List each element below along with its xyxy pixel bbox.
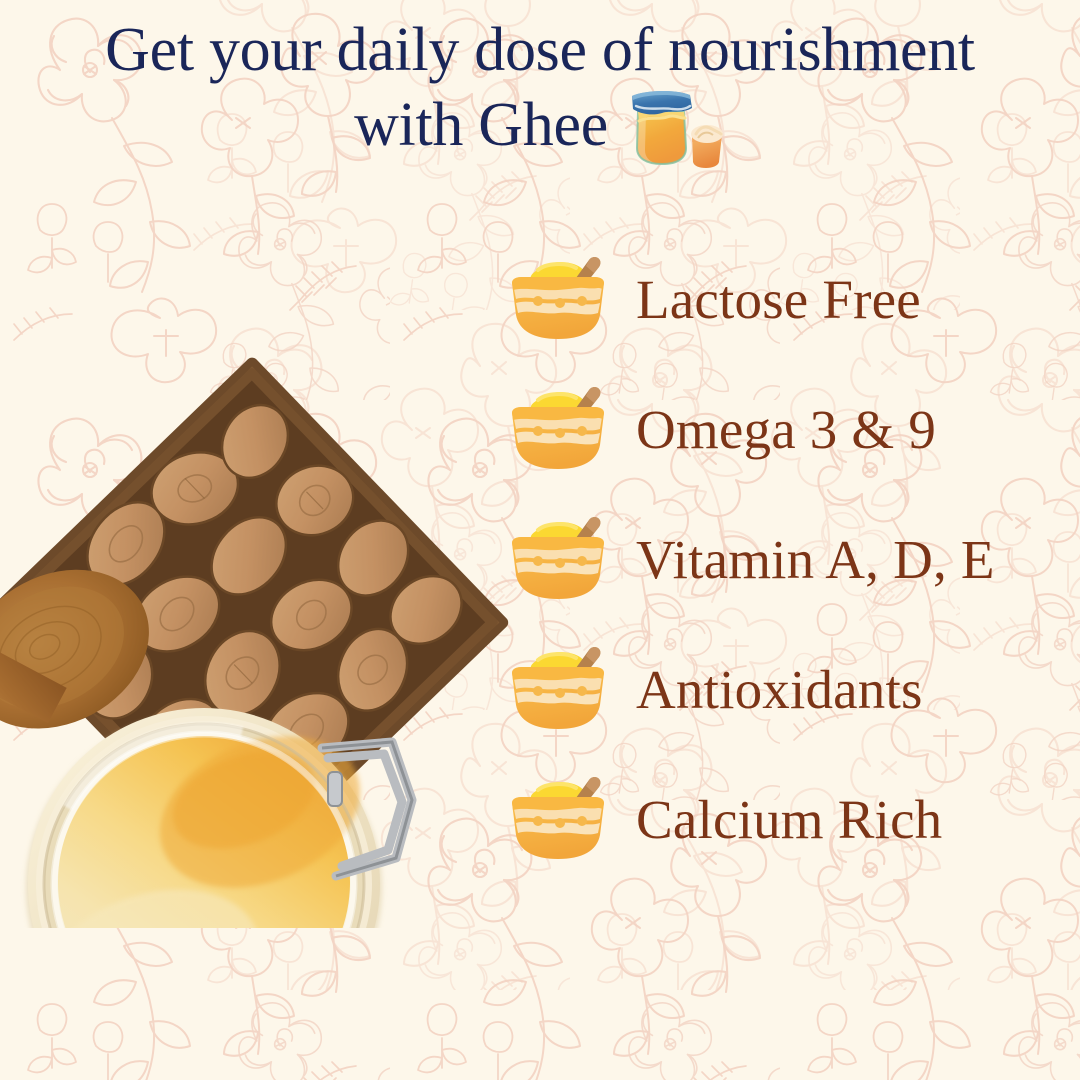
benefit-label: Antioxidants: [636, 662, 923, 717]
ghee-benefits-poster: Get your daily dose of nourishment with …: [0, 0, 1080, 1080]
benefit-label: Lactose Free: [636, 272, 921, 327]
title-line-2: with Ghee: [354, 93, 608, 157]
ghee-bowl-icon: [504, 643, 612, 735]
benefits-list: Lactose Free Omega 3 & 9: [504, 234, 1080, 884]
title-line-1: Get your daily dose of nourishment: [0, 18, 1080, 82]
honey-pot-emoji: [622, 86, 726, 172]
benefit-label: Omega 3 & 9: [636, 402, 936, 457]
benefit-item-1: Omega 3 & 9: [504, 364, 1080, 494]
benefit-item-3: Antioxidants: [504, 624, 1080, 754]
ghee-bowl-icon: [504, 513, 612, 605]
title-line-2-wrap: with Ghee: [0, 82, 1080, 168]
benefit-item-0: Lactose Free: [504, 234, 1080, 364]
benefit-label: Calcium Rich: [636, 792, 942, 847]
benefit-item-2: Vitamin A, D, E: [504, 494, 1080, 624]
benefit-item-4: Calcium Rich: [504, 754, 1080, 884]
benefit-label: Vitamin A, D, E: [636, 532, 995, 587]
page-title: Get your daily dose of nourishment with …: [0, 18, 1080, 168]
ghee-bowl-icon: [504, 773, 612, 865]
ghee-bowl-icon: [504, 383, 612, 475]
ghee-bowl-icon: [504, 253, 612, 345]
ghee-jar-photo: [0, 288, 552, 928]
